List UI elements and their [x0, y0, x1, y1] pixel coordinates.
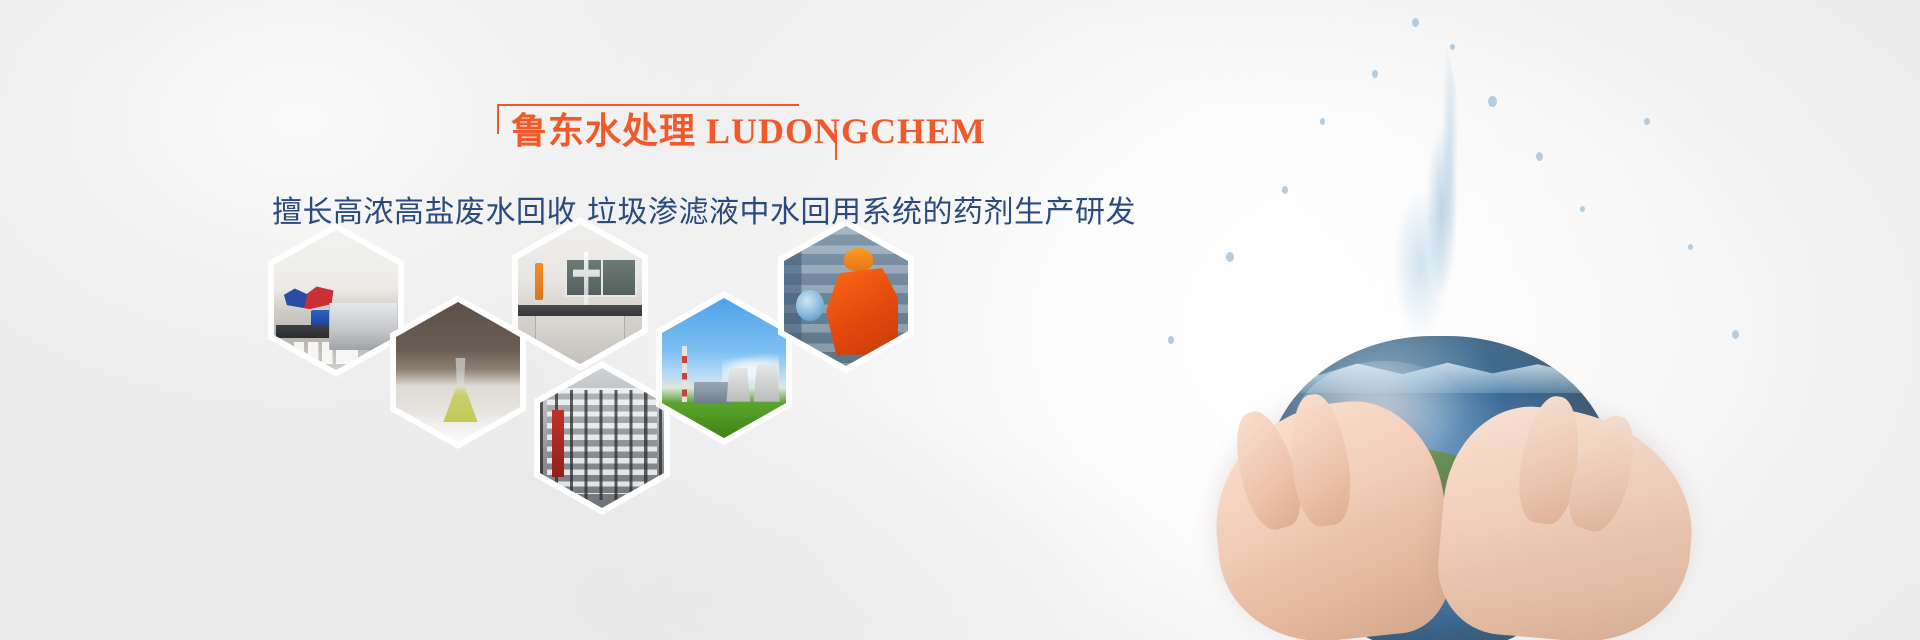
landmass — [1315, 508, 1405, 603]
water-droplet — [1168, 336, 1174, 344]
red-pipe — [552, 410, 563, 477]
left-hand — [1204, 393, 1457, 640]
lab-bench — [518, 305, 642, 316]
hero-banner: 鲁东水处理 LUDONGCHEM 擅长高浓高盐废水回收 垃圾渗滤液中水回用系统的… — [0, 0, 1920, 640]
worker-coverall — [826, 268, 898, 355]
water-droplet — [1320, 118, 1325, 125]
conical-flask — [443, 358, 478, 422]
cooling-tower — [754, 364, 780, 402]
water-droplet — [1688, 244, 1693, 250]
water-droplet — [1282, 186, 1288, 194]
cooling-tower — [726, 368, 750, 402]
cupped-hands — [1170, 400, 1770, 640]
lab-window — [565, 258, 637, 297]
hexagon-photo-cluster — [250, 215, 1010, 535]
water-droplet — [1488, 96, 1497, 107]
water-droplet — [1412, 18, 1419, 27]
water-droplet — [1580, 206, 1585, 212]
globe-waterline — [1266, 355, 1614, 393]
finger — [1225, 405, 1310, 535]
water-droplet — [1226, 252, 1234, 262]
water-droplet — [1644, 118, 1650, 125]
landmass — [1475, 419, 1579, 527]
water-droplet — [1450, 44, 1455, 50]
hand-wheel-valve — [796, 290, 823, 321]
frame-left-bracket — [497, 104, 499, 134]
frame-top-rule — [499, 104, 799, 106]
right-hand — [1432, 400, 1701, 640]
water-droplet — [1732, 330, 1739, 339]
water-splash-column — [1320, 6, 1530, 336]
water-droplet — [1372, 70, 1378, 78]
globe-highlight — [1294, 361, 1475, 488]
plant-building — [694, 382, 731, 404]
water-droplet — [1536, 152, 1543, 161]
landmass — [1370, 444, 1488, 584]
headline-frame: 鲁东水处理 LUDONGCHEM — [497, 104, 837, 160]
green-field — [662, 404, 786, 438]
water-splash-crown — [1230, 260, 1650, 460]
finger — [1513, 393, 1586, 528]
earth-globe — [1266, 336, 1614, 640]
lab-cabinet — [535, 316, 624, 364]
finger — [1560, 409, 1646, 538]
finger — [1284, 391, 1356, 529]
water-globe-scene — [1020, 0, 1920, 640]
lab-stand-orange — [535, 263, 542, 299]
lab-instrument-blue — [311, 310, 333, 327]
smoke-stack — [682, 346, 688, 402]
lab-bench — [276, 325, 395, 338]
page-title: 鲁东水处理 LUDONGCHEM — [511, 107, 986, 155]
safety-helmet — [844, 248, 874, 270]
